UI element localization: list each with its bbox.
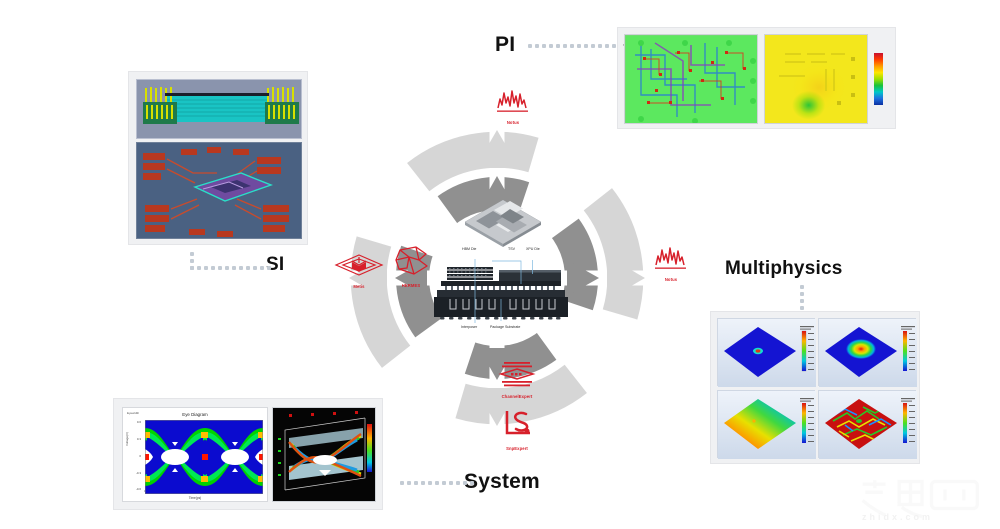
current-density-map [818, 390, 916, 458]
si-results-panel[interactable] [128, 71, 308, 245]
product-node-label: SnpExpert [487, 446, 547, 451]
pcb-3d-layout-image [136, 142, 302, 239]
eye-x-axis-label: Time(ps) [123, 496, 267, 500]
dot-connector-system [400, 481, 474, 485]
eye-diagram-3d-plot [272, 407, 376, 502]
pi-results-panel[interactable]: Voltage(V) [617, 27, 896, 129]
eye-y-tick: 0 [129, 454, 141, 458]
label-package-substrate: Package Substrate [490, 325, 520, 329]
product-node-label: HERMES [381, 283, 441, 288]
dot-connector-si-vertical [190, 252, 194, 270]
label-tsv: TSV [508, 247, 515, 251]
thermal-map-hotspot-large [818, 318, 916, 386]
waveform-icon [641, 245, 701, 271]
connector-3d-mesh-image [136, 79, 302, 139]
label-interposer: Interposer [461, 325, 477, 329]
waveform-icon [483, 88, 543, 114]
power-delivery-network-layout-image [624, 34, 758, 124]
ir-drop-heatmap-image [764, 34, 868, 124]
ls-monogram-icon [487, 408, 547, 440]
eye-y-tick: 0.6 [129, 420, 141, 424]
product-node-hermes[interactable]: HERMES [381, 245, 441, 288]
eye-y-tick: 0.3 [129, 437, 141, 441]
eye-density-plot [145, 420, 263, 494]
product-node-label: Notus [483, 120, 543, 125]
chiplet-package-diagram: HBM Die TSV XPU Die Interposer Package S… [430, 190, 570, 340]
stress-gradient-map [717, 390, 815, 458]
product-node-label: ChannelExpert [487, 394, 547, 399]
eye-chart-title: Eye Diagram [123, 412, 267, 417]
dot-connector-pi [528, 44, 616, 48]
product-node-label: Notus [641, 277, 701, 282]
product-node-label: Metis [329, 284, 389, 289]
dot-connector-multiphysics [800, 285, 804, 310]
eye-diagram-2d-plot: Eyewidth Eye Diagram Voltage(V) Time(ps)… [122, 407, 268, 502]
thermal-map-hotspot-small [717, 318, 815, 386]
product-node-snpexpert[interactable]: SnpExpert [487, 408, 547, 451]
system-results-panel[interactable]: Eyewidth Eye Diagram Voltage(V) Time(ps)… [113, 398, 383, 510]
label-xpu-die: XPU Die [526, 247, 540, 251]
product-node-notus-top[interactable]: Notus [483, 88, 543, 125]
product-node-metis[interactable]: Metis [329, 252, 389, 289]
eye-y-tick: -0.3 [129, 471, 141, 475]
section-label-pi: PI [495, 33, 515, 57]
label-hbm-die: HBM Die [462, 247, 476, 251]
diamond-mesh-icon [329, 252, 389, 278]
3d-chip-package-icon [458, 190, 548, 248]
multiphysics-results-panel[interactable] [710, 311, 920, 464]
dot-connector-si [190, 266, 271, 270]
section-label-system: System [464, 470, 540, 494]
section-label-multiphysics: Multiphysics [725, 258, 842, 280]
pi-colorbar [874, 53, 883, 105]
product-node-channelexpert[interactable]: ChannelExpert [487, 358, 547, 399]
section-label-si: SI [266, 254, 284, 276]
arrow-cube-icon [381, 245, 441, 277]
chip-cross-section-icon: HBM Die TSV XPU Die Interposer Package S… [430, 248, 570, 338]
watermark-text: zhidx.com [862, 512, 933, 522]
slide-canvas: HBM Die TSV XPU Die Interposer Package S… [0, 0, 1000, 529]
product-node-notus-right[interactable]: Notus [641, 245, 701, 282]
stacked-layers-icon [487, 358, 547, 388]
